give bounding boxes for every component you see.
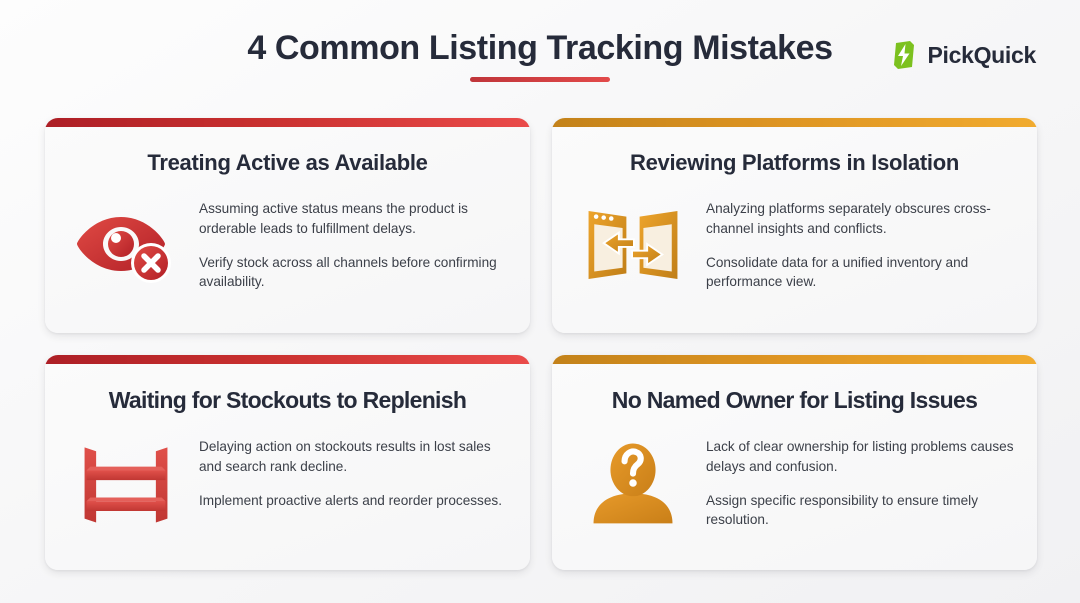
card-accent-bar (552, 355, 1037, 364)
two-screens-exchange-arrows-icon (574, 197, 692, 293)
title-underline (470, 77, 610, 82)
mistake-card-2: Reviewing Platforms in Isolation (552, 118, 1037, 333)
card-title: Treating Active as Available (63, 150, 512, 175)
card-paragraph-2: Implement proactive alerts and reorder p… (199, 491, 508, 510)
brand-name: PickQuick (927, 42, 1036, 69)
card-paragraph-1: Assuming active status means the product… (199, 199, 508, 238)
card-text: Analyzing platforms separately obscures … (706, 197, 1015, 291)
card-body: Lack of clear ownership for listing prob… (570, 435, 1019, 531)
card-paragraph-1: Delaying action on stockouts results in … (199, 437, 508, 476)
infographic-root: 4 Common Listing Tracking Mistakes PickQ… (0, 0, 1080, 603)
card-paragraph-2: Consolidate data for a unified inventory… (706, 253, 1015, 292)
mistake-card-1: Treating Active as Available (45, 118, 530, 333)
card-body: Delaying action on stockouts results in … (63, 435, 512, 531)
card-text: Assuming active status means the product… (199, 197, 508, 291)
card-accent-bar (45, 355, 530, 364)
card-title: Waiting for Stockouts to Replenish (63, 387, 512, 413)
lightning-bolt-logo-icon (891, 40, 917, 70)
brand-lockup: PickQuick (891, 40, 1036, 70)
person-with-question-mark-icon (574, 435, 692, 531)
card-text: Lack of clear ownership for listing prob… (706, 435, 1015, 529)
card-title: Reviewing Platforms in Isolation (570, 150, 1019, 175)
eye-with-error-badge-icon (67, 197, 185, 293)
mistake-card-4: No Named Owner for Listing Issues (552, 355, 1037, 570)
card-body: Analyzing platforms separately obscures … (570, 197, 1019, 293)
card-text: Delaying action on stockouts results in … (199, 435, 508, 510)
card-body: Assuming active status means the product… (63, 197, 512, 293)
card-paragraph-1: Analyzing platforms separately obscures … (706, 199, 1015, 238)
card-paragraph-2: Verify stock across all channels before … (199, 253, 508, 292)
card-accent-bar (45, 118, 530, 127)
empty-shelf-icon (67, 435, 185, 531)
mistakes-grid: Treating Active as Available (45, 118, 1037, 570)
mistake-card-3: Waiting for Stockouts to Replenish (45, 355, 530, 570)
card-paragraph-2: Assign specific responsibility to ensure… (706, 491, 1015, 530)
card-accent-bar (552, 118, 1037, 127)
header: 4 Common Listing Tracking Mistakes PickQ… (0, 0, 1080, 105)
card-title: No Named Owner for Listing Issues (570, 387, 1019, 413)
card-paragraph-1: Lack of clear ownership for listing prob… (706, 437, 1015, 476)
